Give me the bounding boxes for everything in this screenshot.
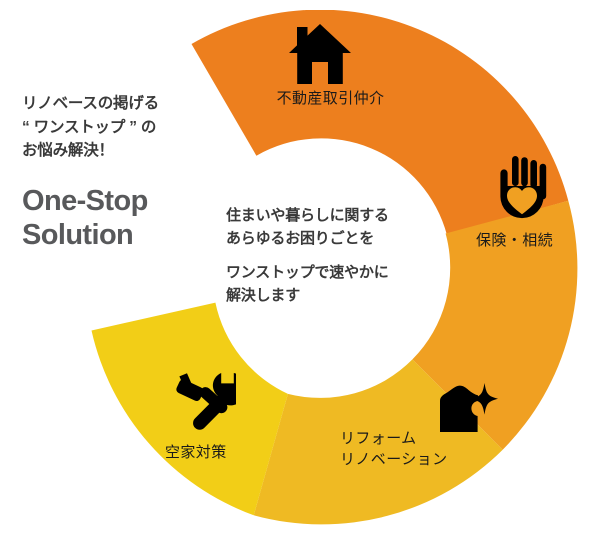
center-text-block: 住まいや暮らしに関する あらゆるお困りごとを ワンストップで速やかに 解決します: [226, 205, 456, 308]
segment-label-insurance: 保険・相続: [476, 230, 591, 251]
hand-heart-icon: [494, 156, 550, 223]
segment-label-vacant-house: 空家対策: [165, 442, 275, 463]
center-copy-line-2: ワンストップで速やかに 解決します: [226, 262, 456, 308]
segment-label-reform: リフォーム リノベーション: [340, 428, 505, 471]
lead-copy: リノベースの掲げる “ ワンストップ ” の お悩み解決！: [22, 92, 232, 163]
segment-label-real-estate: 不動産取引仲介: [248, 88, 413, 109]
center-copy-line-1: 住まいや暮らしに関する あらゆるお困りごとを: [226, 205, 456, 251]
left-text-block: リノベースの掲げる “ ワンストップ ” の お悩み解決！ One-Stop S…: [22, 92, 232, 252]
one-stop-solution-infographic: 不動産取引仲介 保険・相続 リフォーム リノベーション 空家対策 リノベースの掲…: [0, 0, 600, 533]
page-title: One-Stop Solution: [22, 185, 232, 253]
house-sparkle-icon: [434, 377, 498, 435]
house-icon: [289, 24, 351, 84]
hammer-wrench-icon: [170, 371, 236, 431]
